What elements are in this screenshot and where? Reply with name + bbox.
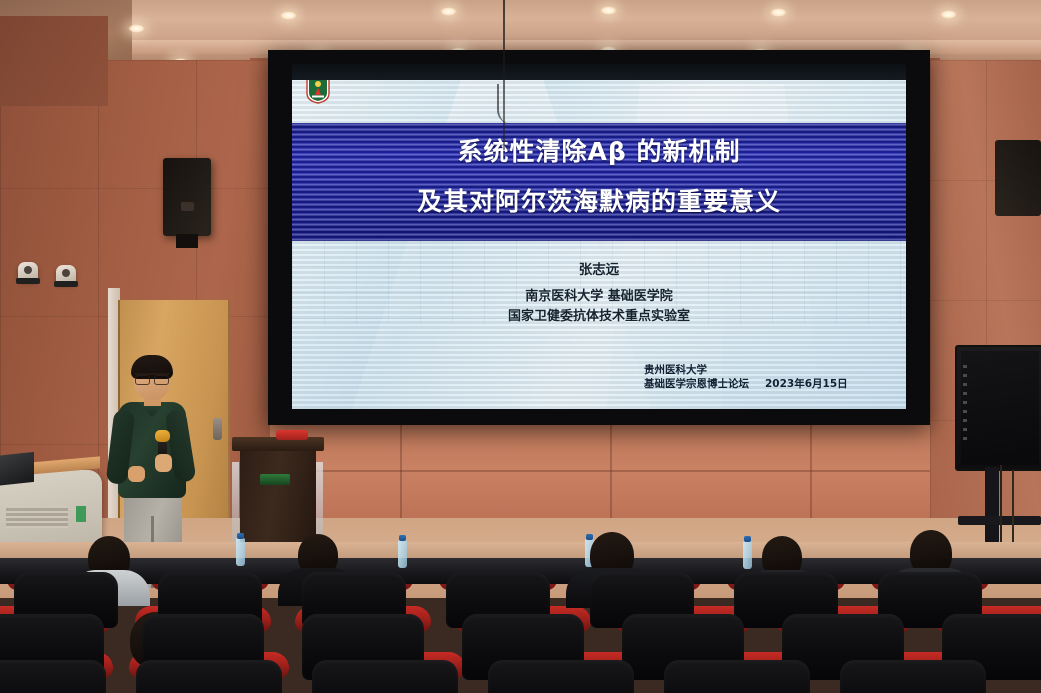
wall-camera-icon [56,265,76,284]
auditorium-seat[interactable] [488,660,634,693]
hanging-cable [503,0,505,150]
downlight-icon [280,11,297,20]
lectern-red-item [276,430,308,440]
wall-speaker-left [163,158,211,236]
front-wall-lower-panel [250,424,940,524]
wall-camera-icon [18,262,38,281]
slide-affiliation-1: 南京医科大学 基础医学院 [292,287,906,307]
slide-footer-line-2: 基础医学宗恩博士论坛2023年6月15日 [644,377,894,391]
monitor-button-strip[interactable] [963,365,967,445]
slide-speaker-block: 张志远 南京医科大学 基础医学院 国家卫健委抗体技术重点实验室 [292,260,906,327]
water-bottle [743,541,752,569]
glasses-icon [135,373,169,383]
downlight-icon [770,8,787,17]
slide-title-line-1: 系统性清除Aβ 的新机制 [292,137,906,167]
downlight-icon [600,6,617,15]
slide-footer-date: 2023年6月15日 [765,378,848,390]
lecture-hall-photo: 系统性清除Aβ 的新机制 及其对阿尔茨海默病的重要意义 张志远 南京医科大学 基… [0,0,1041,693]
auditorium-seat[interactable] [664,660,810,693]
wall-speaker-right [995,140,1041,216]
hanging-cable-loop [497,84,513,124]
lectern-display-panel [260,474,290,485]
flat-panel-monitor[interactable] [955,345,1041,471]
slide-title-line-2: 及其对阿尔茨海默病的重要意义 [292,187,906,217]
water-bottle [398,540,407,568]
audience-area [0,520,1041,693]
left-wall-upper [0,16,108,106]
auditorium-seat[interactable] [136,660,282,693]
downlight-icon [940,10,957,19]
auditorium-seat[interactable] [840,660,986,693]
door-handle-icon[interactable] [213,418,222,440]
downlight-icon [440,7,457,16]
slide-surface: 系统性清除Aβ 的新机制 及其对阿尔茨海默病的重要意义 张志远 南京医科大学 基… [292,64,906,409]
console-monitor[interactable] [0,452,34,486]
slide-footer-line-1: 贵州医科大学 [644,363,894,377]
screen-top-bezel-strip [292,64,906,80]
downlight-icon [128,24,145,33]
water-bottle [236,538,245,566]
auditorium-seat[interactable] [0,660,106,693]
slide-footer-block: 贵州医科大学 基础医学宗恩博士论坛2023年6月15日 [644,363,894,391]
slide-affiliation-2: 国家卫健委抗体技术重点实验室 [292,307,906,327]
slide-title-banner: 系统性清除Aβ 的新机制 及其对阿尔茨海默病的重要意义 [292,123,906,241]
led-display-screen[interactable]: 系统性清除Aβ 的新机制 及其对阿尔茨海默病的重要意义 张志远 南京医科大学 基… [268,50,930,425]
slide-speaker-name: 张志远 [292,260,906,280]
auditorium-seat[interactable] [312,660,458,693]
